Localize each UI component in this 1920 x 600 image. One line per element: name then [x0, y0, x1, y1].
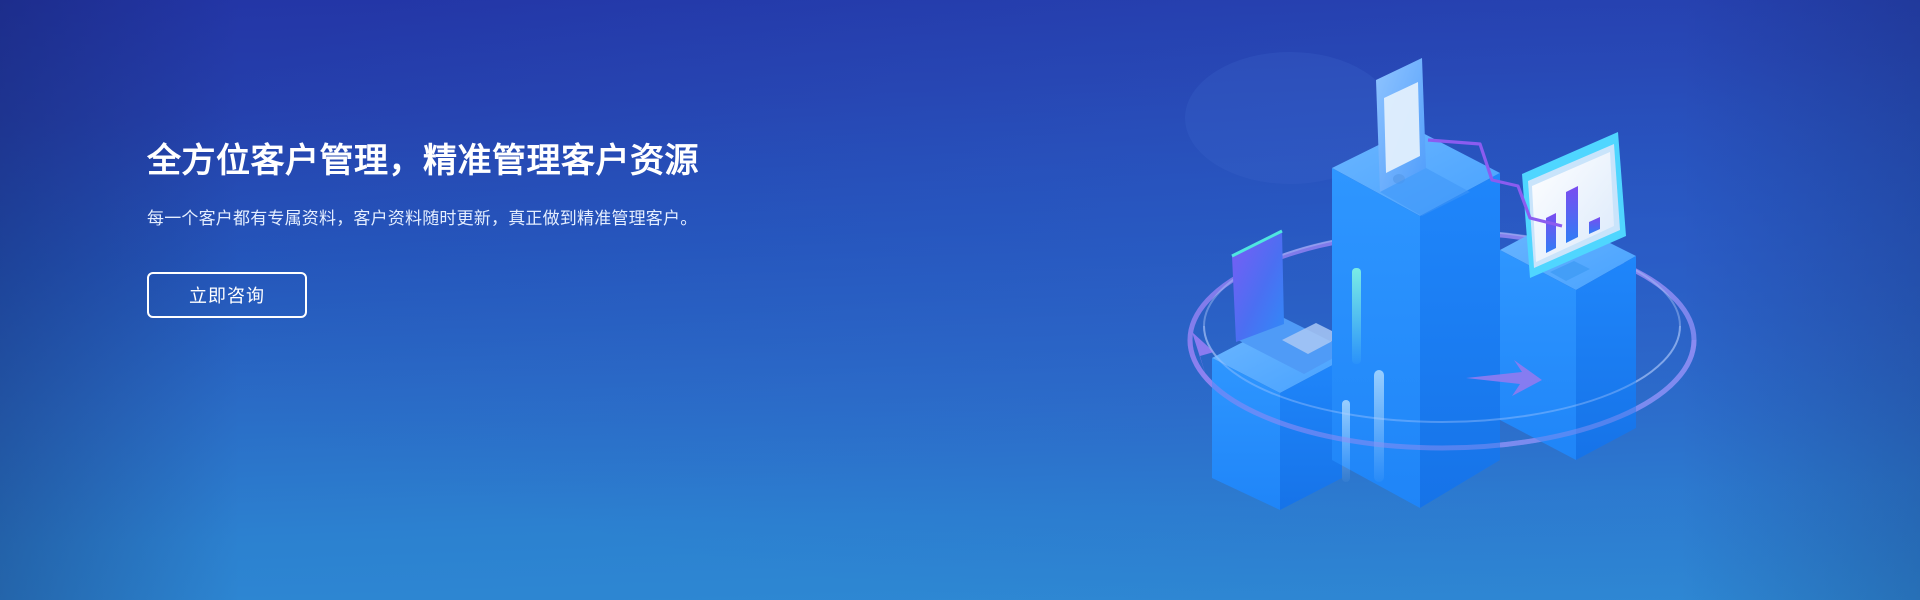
pedestal-glow-streak-3	[1374, 370, 1384, 482]
laptop-screen	[1232, 231, 1284, 342]
tablet	[1376, 58, 1470, 216]
orbit-arrowhead-left	[1192, 332, 1214, 376]
consult-now-button[interactable]: 立即咨询	[147, 272, 307, 318]
center-pedestal-front-right	[1420, 173, 1500, 508]
hero-subtitle: 每一个客户都有专属资料，客户资料随时更新，真正做到精准管理客户。	[147, 205, 737, 233]
hero-banner: 全方位客户管理，精准管理客户资源 每一个客户都有专属资料，客户资料随时更新，真正…	[0, 0, 1920, 600]
hero-illustration	[1170, 40, 1730, 570]
chart-bar-1	[1546, 213, 1556, 253]
hero-copy-block: 全方位客户管理，精准管理客户资源 每一个客户都有专属资料，客户资料随时更新，真正…	[147, 140, 787, 318]
chart-bar-2	[1566, 186, 1578, 243]
pedestal-glow-streak-1	[1352, 268, 1361, 364]
page-title: 全方位客户管理，精准管理客户资源	[147, 140, 787, 183]
